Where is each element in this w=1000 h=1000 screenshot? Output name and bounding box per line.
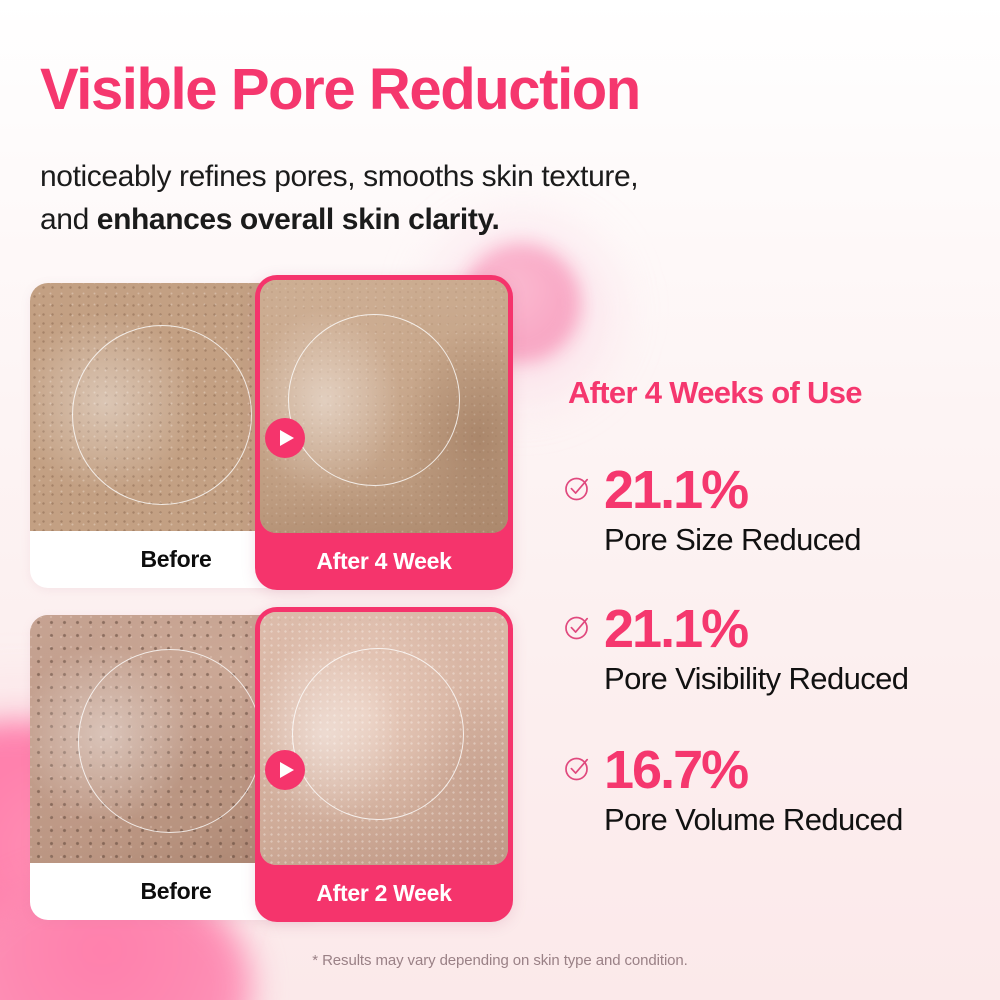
result-value-2: 21.1% [604, 602, 990, 656]
result-value-3: 16.7% [604, 743, 990, 797]
results-panel: After 4 Weeks of Use 21.1% Pore Size Red… [560, 375, 990, 839]
subtitle-line-2-bold: enhances overall skin clarity. [97, 203, 500, 236]
check-circle-icon [563, 612, 593, 642]
subtitle-line-1: noticeably refines pores, smooths skin t… [40, 160, 638, 193]
after-label-1: After 4 Week [255, 533, 513, 590]
result-item-3: 16.7% Pore Volume Reduced [560, 743, 990, 838]
results-title: After 4 Weeks of Use [568, 375, 990, 411]
disclaimer-text: * Results may vary depending on skin typ… [0, 952, 1000, 969]
after-label-2: After 2 Week [255, 865, 513, 922]
result-label-1: Pore Size Reduced [604, 521, 990, 558]
result-label-2: Pore Visibility Reduced [604, 660, 990, 697]
after-photo-2 [260, 612, 508, 865]
comparison-pair-2: Before After 2 Week [30, 615, 513, 920]
subtitle-line-2-regular: and [40, 203, 97, 236]
page-title: Visible Pore Reduction [40, 60, 640, 120]
page-subtitle: noticeably refines pores, smooths skin t… [40, 156, 638, 241]
check-circle-icon [563, 473, 593, 503]
play-icon[interactable] [265, 750, 305, 790]
result-item-1: 21.1% Pore Size Reduced [560, 463, 990, 558]
comparison-pair-1: Before After 4 Week [30, 283, 513, 588]
play-icon[interactable] [265, 418, 305, 458]
result-item-2: 21.1% Pore Visibility Reduced [560, 602, 990, 697]
after-photo-1 [260, 280, 508, 533]
check-circle-icon [563, 753, 593, 783]
result-label-3: Pore Volume Reduced [604, 801, 990, 838]
result-value-1: 21.1% [604, 463, 990, 517]
